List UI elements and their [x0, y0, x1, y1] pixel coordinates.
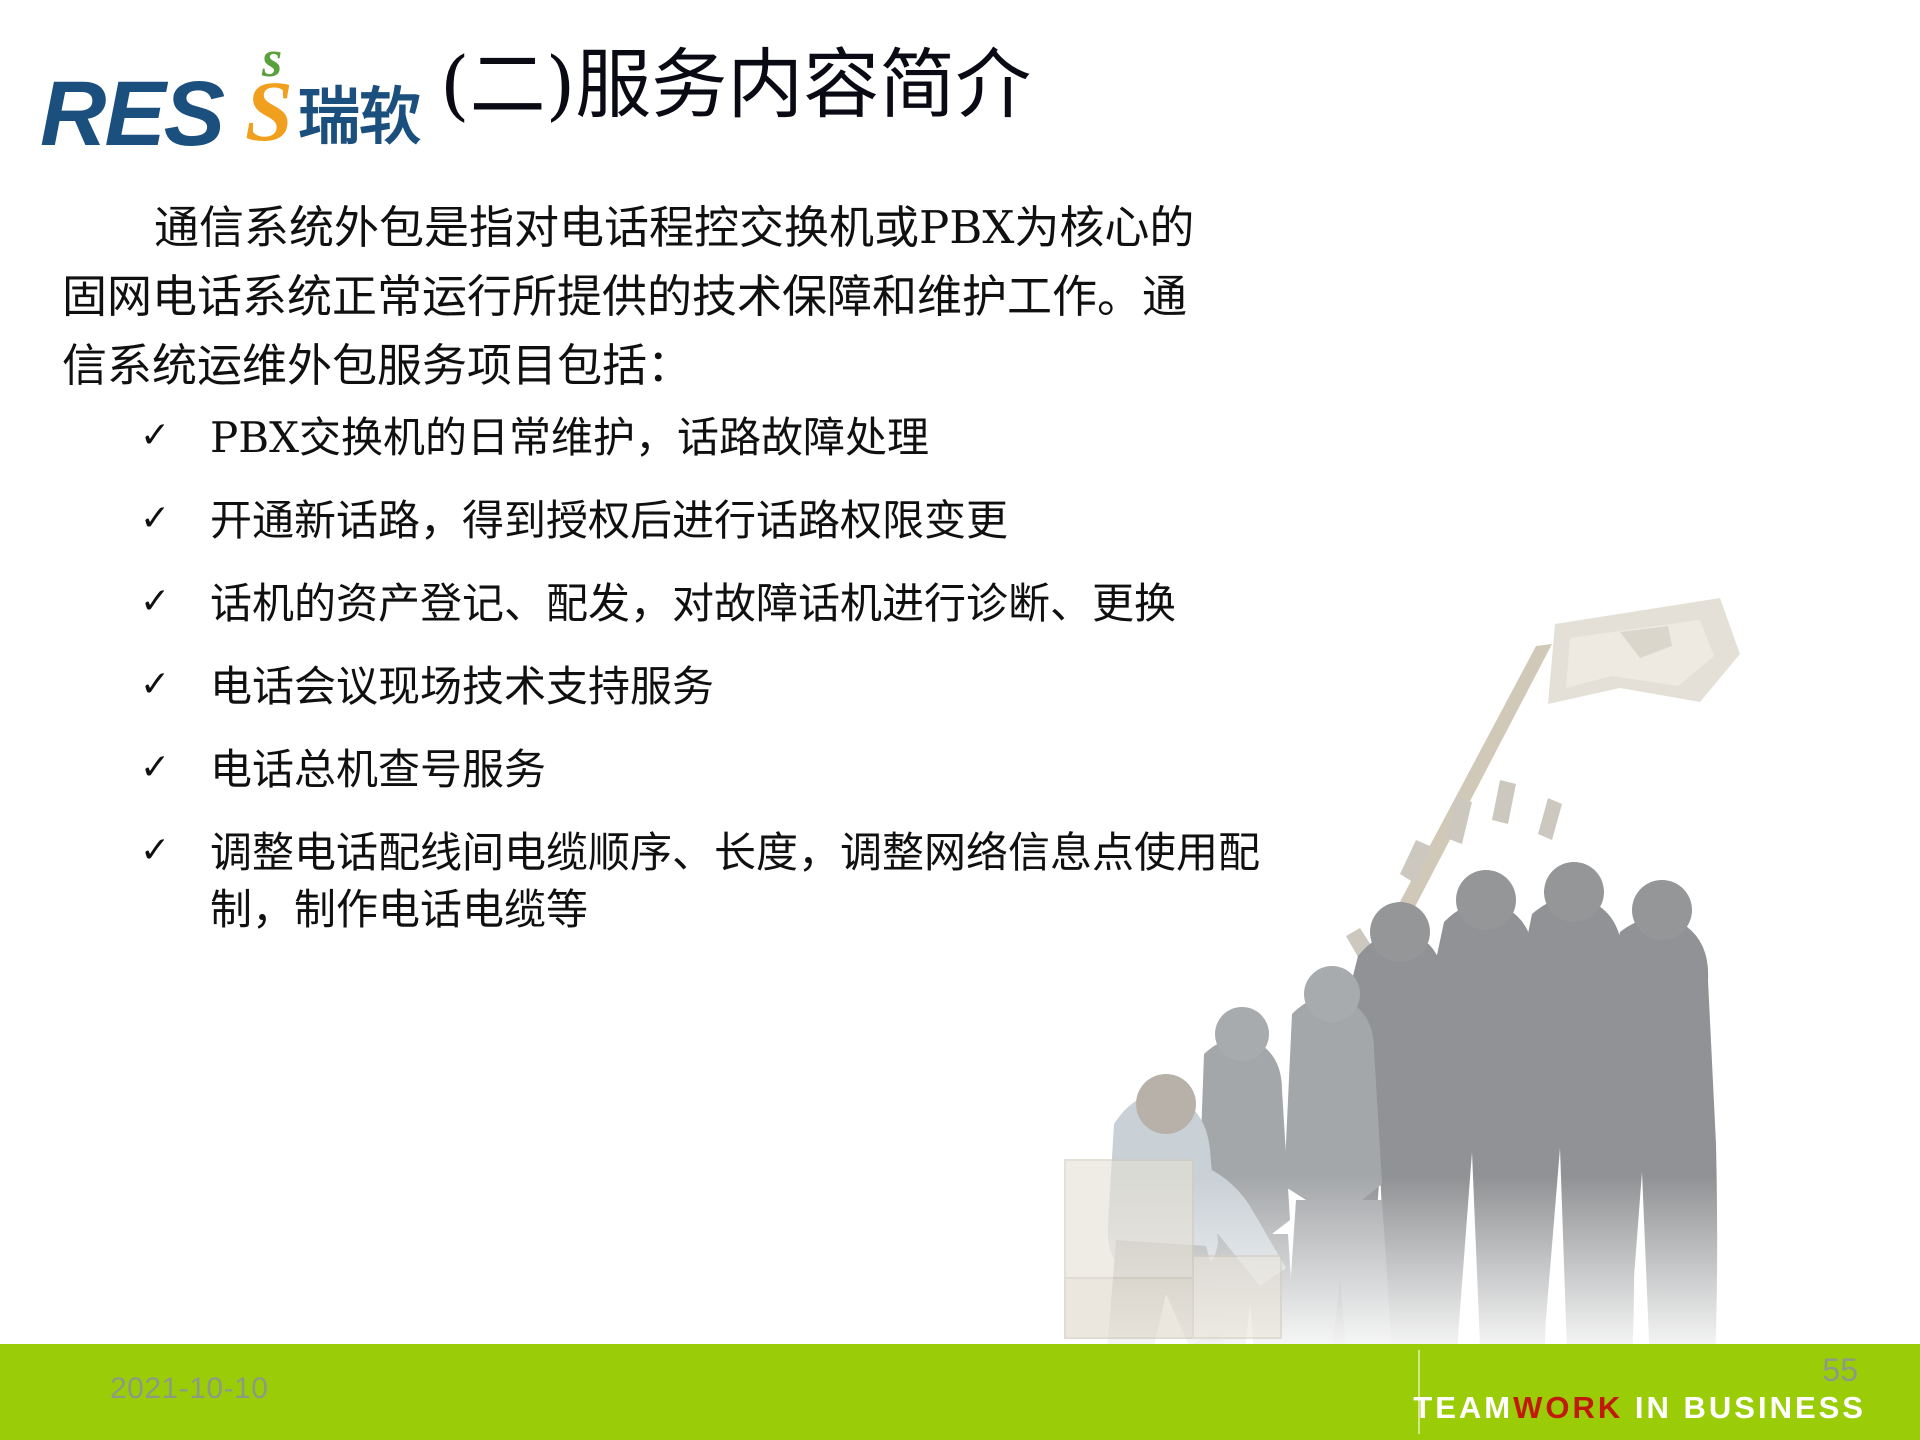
paragraph-text: 通信系统外包是指对电话程控交换机或PBX为核心的 [154, 201, 1194, 254]
check-icon: ✓ [140, 656, 170, 713]
list-item-label: 话机的资产登记、配发，对故障话机进行诊断、更换 [210, 579, 1176, 628]
company-logo: RES S s 瑞软 [40, 28, 420, 146]
check-icon: ✓ [140, 490, 170, 547]
intro-paragraph-line-2: 固网电话系统正常运行所提供的技术保障和维护工作。通 [0, 265, 1292, 328]
service-list: ✓ PBX交换机的日常维护，话路故障处理 ✓ 开通新话路，得到授权后进行话路权限… [0, 409, 1300, 938]
logo-wordmark: RES [40, 68, 223, 160]
intro-paragraph-line-3: 信系统运维外包服务项目包括： [0, 334, 1292, 397]
slide-footer: 2021-10-10 55 TEAMWORK IN BUSINESS [0, 1344, 1920, 1440]
check-icon: ✓ [140, 822, 170, 879]
list-item: ✓ 电话会议现场技术支持服务 [140, 658, 1390, 715]
list-item: ✓ 电话总机查号服务 [140, 741, 1390, 798]
intro-paragraph-line-1: 通信系统外包是指对电话程控交换机或PBX为核心的 [0, 196, 1292, 259]
cardboard-boxes [1055, 1130, 1355, 1340]
list-item: ✓ PBX交换机的日常维护，话路故障处理 [140, 409, 1390, 466]
list-item-label: PBX交换机的日常维护，话路故障处理 [210, 413, 929, 462]
page-number: 55 [1822, 1352, 1858, 1389]
slide-header: RES S s 瑞软 (二)服务内容简介 [0, 0, 1920, 185]
list-item-label: 开通新话路，得到授权后进行话路权限变更 [210, 496, 1008, 545]
list-item-label: 电话总机查号服务 [210, 745, 546, 794]
list-item-label: 调整电话配线间电缆顺序、长度，调整网络信息点使用配 [210, 828, 1260, 877]
list-item: ✓ 调整电话配线间电缆顺序、长度，调整网络信息点使用配 制，制作电话电缆等 [140, 824, 1390, 938]
list-item-label-continued: 制，制作电话电缆等 [210, 881, 1390, 938]
tagline-post: IN BUSINESS [1623, 1390, 1866, 1425]
slide-content: 通信系统外包是指对电话程控交换机或PBX为核心的 固网电话系统正常运行所提供的技… [0, 196, 1300, 964]
logo-accent-s-green-icon: s [262, 34, 282, 86]
slide: RES S s 瑞软 (二)服务内容简介 通信系统外包是指对电话程控交换机或PB… [0, 0, 1920, 1440]
footer-tagline: TEAMWORK IN BUSINESS [1413, 1390, 1866, 1426]
list-item-label: 电话会议现场技术支持服务 [210, 662, 714, 711]
check-icon: ✓ [140, 407, 170, 464]
list-item: ✓ 开通新话路，得到授权后进行话路权限变更 [140, 492, 1390, 549]
check-icon: ✓ [140, 573, 170, 630]
logo-chinese-name: 瑞软 [298, 86, 420, 148]
footer-date: 2021-10-10 [110, 1372, 268, 1406]
page-title: (二)服务内容简介 [440, 42, 1031, 128]
tagline-pre: TEAM [1413, 1390, 1513, 1425]
tagline-highlight: WORK [1513, 1390, 1623, 1425]
check-icon: ✓ [140, 739, 170, 796]
list-item: ✓ 话机的资产登记、配发，对故障话机进行诊断、更换 [140, 575, 1390, 632]
